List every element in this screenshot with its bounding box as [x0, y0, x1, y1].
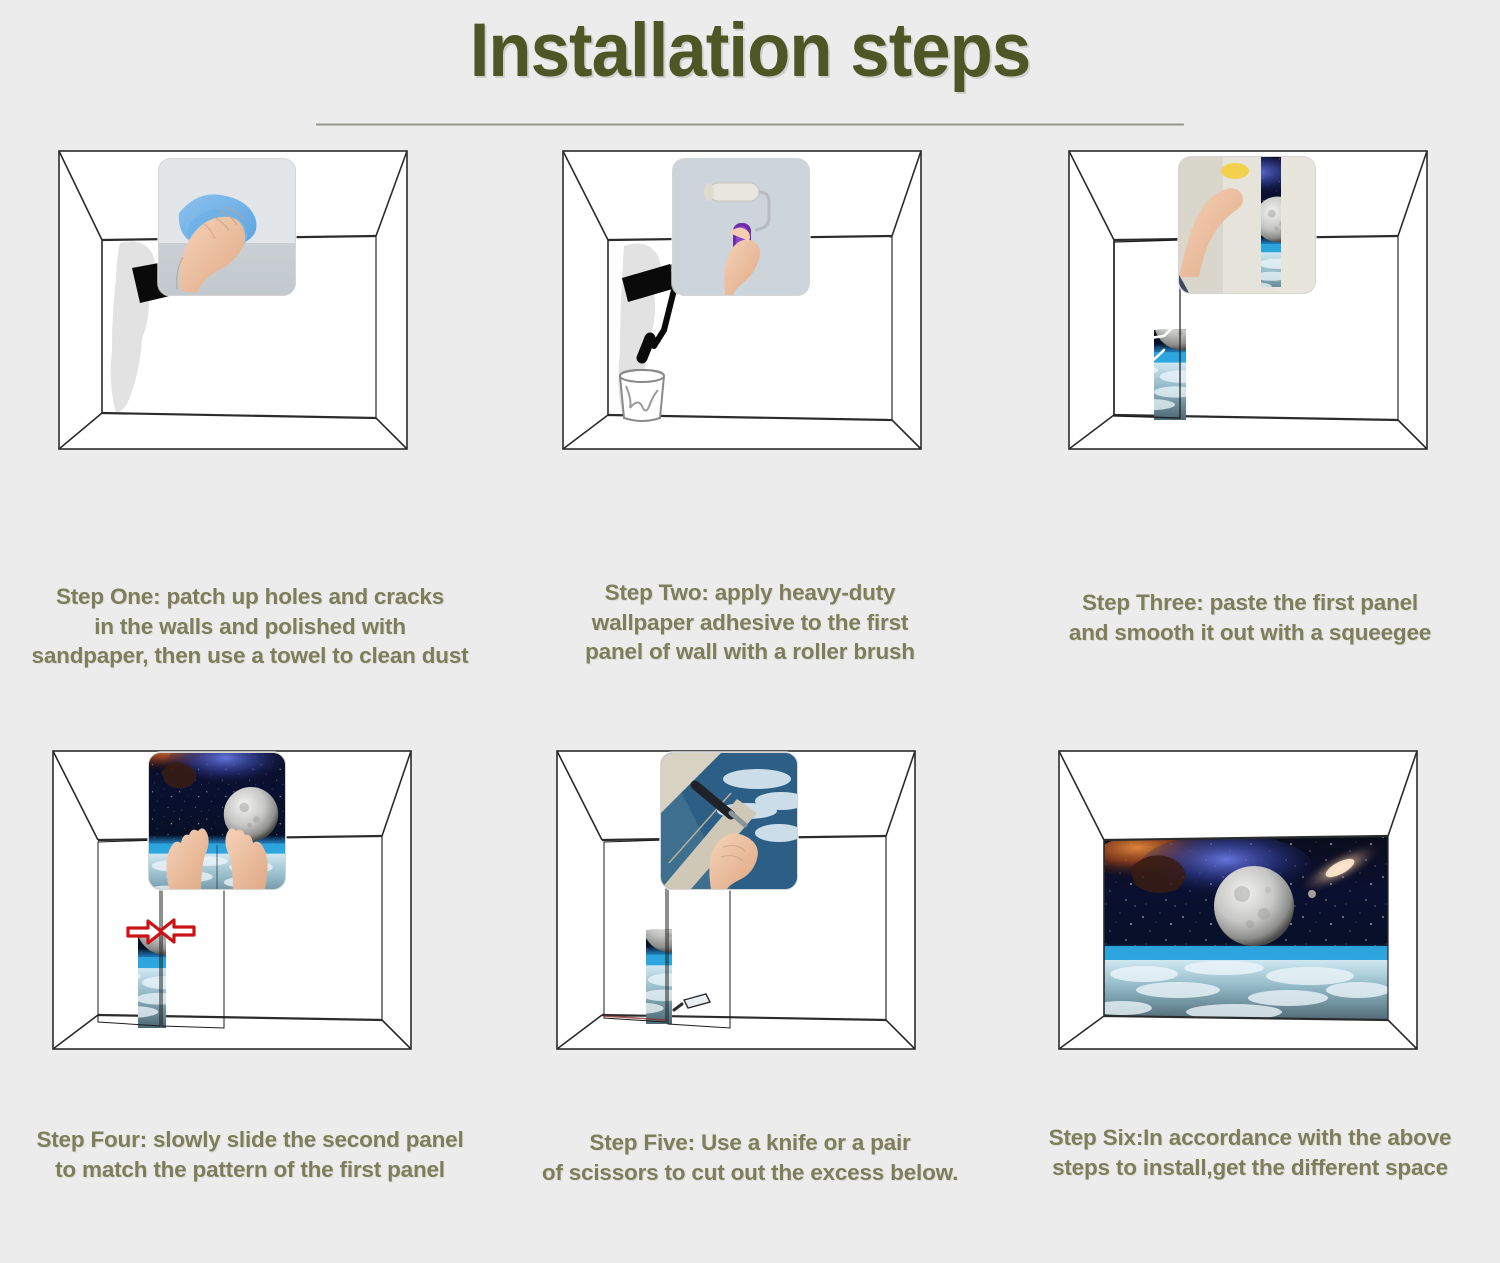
caption-line: panel of wall with a roller brush: [500, 637, 1000, 667]
step-four-inset-photo: [148, 752, 286, 890]
step-one-inset-photo: [158, 158, 296, 296]
caption-line: Step Two: apply heavy-duty: [500, 578, 1000, 608]
step-two-caption: Step Two: apply heavy-duty wallpaper adh…: [500, 578, 1000, 667]
step-card-four: Step Four: slowly slide the second panel…: [0, 710, 500, 1250]
caption-line: Step One: patch up holes and cracks: [0, 582, 500, 612]
photo-hand-wiping-wall-with-blue-cloth: [159, 159, 295, 295]
step-one-caption: Step One: patch up holes and cracks in t…: [0, 582, 500, 671]
step-card-two: Step Two: apply heavy-duty wallpaper adh…: [500, 150, 1000, 710]
photo-knife-trimming-excess-wallpaper: [661, 753, 797, 889]
caption-line: steps to install,get the different space: [1000, 1153, 1500, 1183]
photo-hand-rolling-paint-roller-on-wall: [673, 159, 809, 295]
step-two-inset-photo: [672, 158, 810, 296]
title-divider: [316, 123, 1184, 126]
caption-line: and smooth it out with a squeegee: [1000, 618, 1500, 648]
caption-line: in the walls and polished with: [0, 612, 500, 642]
caption-line: of scissors to cut out the excess below.: [500, 1158, 1000, 1188]
step-three-caption: Step Three: paste the first panel and sm…: [1000, 588, 1500, 647]
step-five-caption: Step Five: Use a knife or a pair of scis…: [500, 1128, 1000, 1187]
photo-two-hands-matching-panels: [149, 753, 285, 889]
step-three-inset-photo: [1178, 156, 1316, 294]
installation-steps-grid: Step One: patch up holes and cracks in t…: [0, 150, 1500, 1250]
step-four-caption: Step Four: slowly slide the second panel…: [0, 1125, 500, 1184]
finished-mural-wall: [1092, 832, 1390, 1022]
room-box-diagram-finished: [1058, 750, 1418, 1050]
paint-bucket-icon: [620, 370, 664, 421]
caption-line: sandpaper, then use a towel to clean dus…: [0, 641, 500, 671]
photo-person-smoothing-first-panel: [1179, 157, 1315, 293]
caption-line: wallpaper adhesive to the first: [500, 608, 1000, 638]
step-six-caption: Step Six:In accordance with the above st…: [1000, 1123, 1500, 1182]
step-card-six: Step Six:In accordance with the above st…: [1000, 710, 1500, 1250]
caption-line: Step Five: Use a knife or a pair: [500, 1128, 1000, 1158]
page-title: Installation steps: [53, 8, 1448, 93]
step-card-five: Step Five: Use a knife or a pair of scis…: [500, 710, 1000, 1250]
page-header: Installation steps: [0, 0, 1500, 126]
caption-line: Step Four: slowly slide the second panel: [0, 1125, 500, 1155]
caption-line: Step Six:In accordance with the above: [1000, 1123, 1500, 1153]
step-five-inset-photo: [660, 752, 798, 890]
step-card-one: Step One: patch up holes and cracks in t…: [0, 150, 500, 710]
step-six-room-illustration: [1058, 750, 1418, 1050]
step-card-three: Step Three: paste the first panel and sm…: [1000, 150, 1500, 710]
caption-line: Step Three: paste the first panel: [1000, 588, 1500, 618]
caption-line: to match the pattern of the first panel: [0, 1155, 500, 1185]
